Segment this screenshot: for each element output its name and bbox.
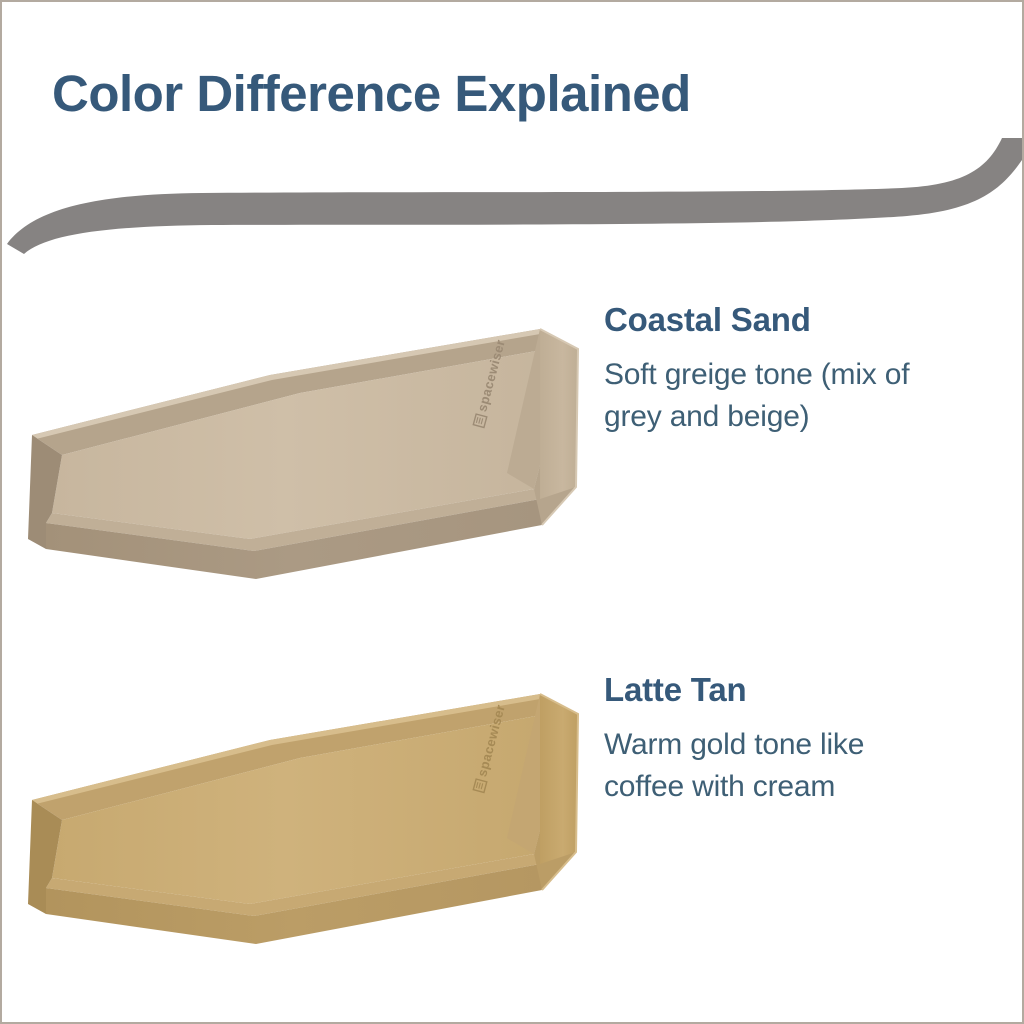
infographic-canvas: Color Difference Explained xyxy=(0,0,1024,1024)
product-description-latte-tan: Warm gold tone like coffee with cream xyxy=(604,724,944,807)
product-text-latte-tan: Latte Tan Warm gold tone like coffee wit… xyxy=(604,672,944,807)
product-name-coastal-sand: Coastal Sand xyxy=(604,302,944,338)
product-name-latte-tan: Latte Tan xyxy=(604,672,944,708)
swoosh-divider-icon xyxy=(2,132,1024,262)
tray-right-rim-top xyxy=(540,329,578,499)
tray-illustration: spacewiser xyxy=(10,652,590,952)
product-row-latte-tan: spacewiser Latte Tan Warm gold tone like… xyxy=(2,652,1024,972)
swoosh-divider xyxy=(2,132,1024,262)
tray-image-latte-tan: spacewiser xyxy=(10,652,590,952)
product-text-coastal-sand: Coastal Sand Soft greige tone (mix of gr… xyxy=(604,302,944,437)
tray-image-coastal-sand: spacewiser xyxy=(10,287,590,587)
tray-right-rim-top xyxy=(540,694,578,864)
tray-illustration: spacewiser xyxy=(10,287,590,587)
product-description-coastal-sand: Soft greige tone (mix of grey and beige) xyxy=(604,354,944,437)
page-title: Color Difference Explained xyxy=(52,64,691,123)
product-row-coastal-sand: spacewiser Coastal Sand Soft greige tone… xyxy=(2,287,1024,607)
